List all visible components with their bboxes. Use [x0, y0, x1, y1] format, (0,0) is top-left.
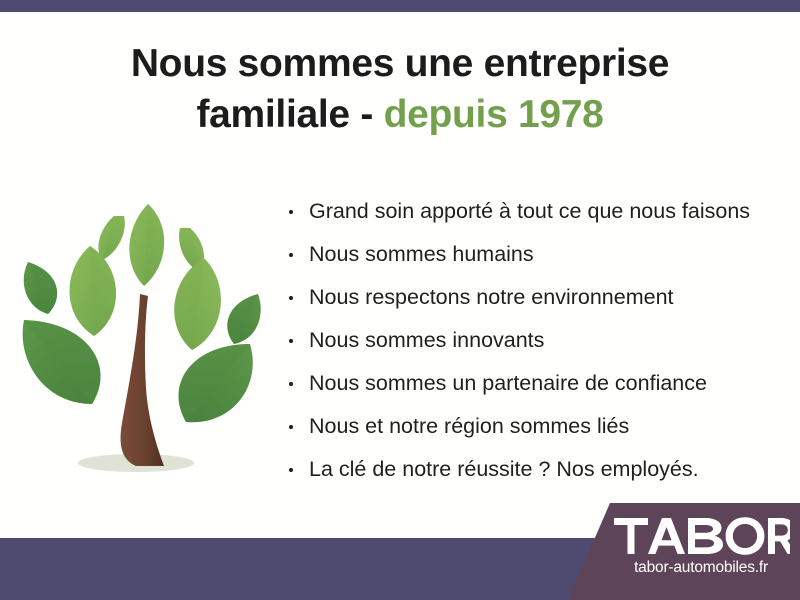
list-item: Nous sommes innovants — [285, 319, 785, 362]
bullet-dot-icon — [289, 253, 293, 257]
list-item: Grand soin apporté à tout ce que nous fa… — [285, 190, 785, 233]
list-item-label: Nous sommes humains — [309, 242, 534, 266]
list-item-label: La clé de notre réussite ? Nos employés. — [309, 457, 699, 481]
list-item: La clé de notre réussite ? Nos employés. — [285, 448, 785, 491]
brand-logo-url: tabor-automobiles.fr — [612, 559, 790, 577]
bullet-dot-icon — [289, 210, 293, 214]
bullet-dot-icon — [289, 339, 293, 343]
bullet-dot-icon — [289, 425, 293, 429]
bullet-dot-icon — [289, 382, 293, 386]
brand-logo-wordmark — [612, 512, 790, 556]
page-title-line-2: familiale - — [196, 93, 383, 136]
list-item-label: Grand soin apporté à tout ce que nous fa… — [309, 199, 750, 223]
list-item-label: Nous respectons notre environnement — [309, 285, 674, 309]
bullet-dot-icon — [289, 468, 293, 472]
page-title-line-1: Nous sommes une entreprise — [131, 42, 669, 85]
list-item: Nous sommes un partenaire de confiance — [285, 362, 785, 405]
list-item-label: Nous sommes un partenaire de confiance — [309, 371, 707, 395]
tree-trunk — [121, 294, 164, 466]
slide-canvas: Nous sommes une entreprise familiale - d… — [0, 0, 800, 600]
bullet-dot-icon — [289, 296, 293, 300]
list-item-label: Nous sommes innovants — [309, 328, 544, 352]
value-bullet-list: Grand soin apporté à tout ce que nous fa… — [285, 190, 785, 491]
top-accent-bar — [0, 0, 800, 12]
list-item: Nous et notre région sommes liés — [285, 405, 785, 448]
list-item: Nous sommes humains — [285, 233, 785, 276]
page-title: Nous sommes une entreprise familiale - d… — [60, 38, 740, 140]
tree-illustration — [18, 198, 264, 492]
page-title-accent: depuis 1978 — [384, 93, 604, 136]
list-item: Nous respectons notre environnement — [285, 276, 785, 319]
list-item-label: Nous et notre région sommes liés — [309, 414, 629, 438]
